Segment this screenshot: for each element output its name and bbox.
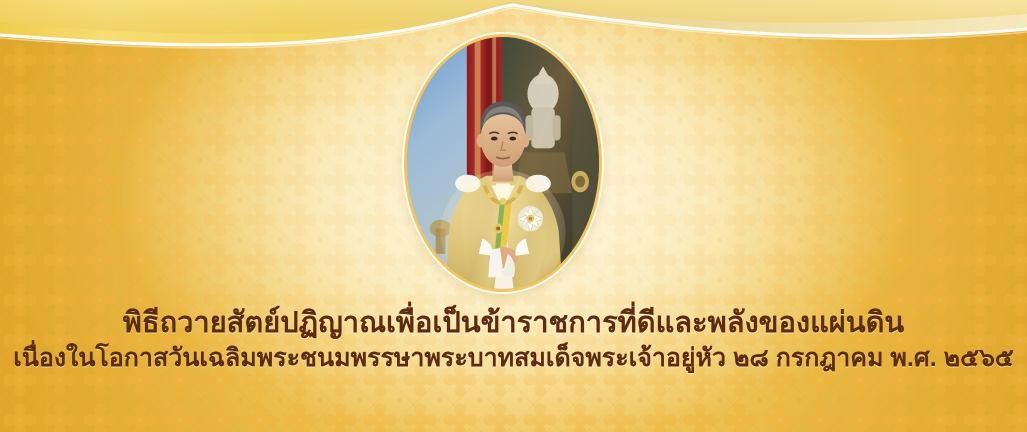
portrait-frame bbox=[404, 34, 602, 292]
royal-banner: พิธีถวายสัตย์ปฏิญาณเพื่อเป็นข้าราชการที่… bbox=[0, 0, 1027, 432]
headline-line-1: พิธีถวายสัตย์ปฏิญาณเพื่อเป็นข้าราชการที่… bbox=[0, 306, 1027, 340]
king-rama-x-portrait bbox=[407, 37, 599, 289]
headline-line-2: เนื่องในโอกาสวันเฉลิมพระชนมพรรษาพระบาทสม… bbox=[0, 343, 1027, 373]
headline-block: พิธีถวายสัตย์ปฏิญาณเพื่อเป็นข้าราชการที่… bbox=[0, 306, 1027, 373]
